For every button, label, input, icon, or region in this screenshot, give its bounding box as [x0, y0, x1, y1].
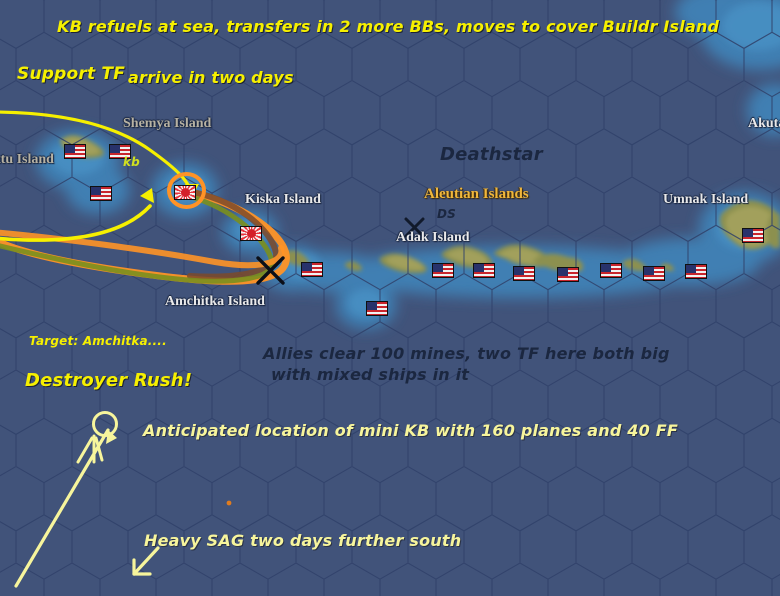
unit-counter-us[interactable] — [109, 144, 131, 159]
unit-counter-us[interactable] — [473, 263, 495, 278]
unit-counter-us[interactable] — [557, 267, 579, 282]
unit-counter-us[interactable] — [742, 228, 764, 243]
unit-counter-us[interactable] — [685, 264, 707, 279]
unit-counter-japan[interactable] — [240, 226, 262, 241]
unit-counter-us[interactable] — [432, 263, 454, 278]
unit-counter-us[interactable] — [366, 301, 388, 316]
anticipated-location-circle — [92, 411, 118, 437]
unit-counter-us[interactable] — [90, 186, 112, 201]
unit-counter-japan-kb[interactable] — [174, 185, 196, 200]
unit-counter-us[interactable] — [513, 266, 535, 281]
water-and-land-layer — [0, 0, 780, 596]
unit-counter-us[interactable] — [301, 262, 323, 277]
unit-counter-us[interactable] — [64, 144, 86, 159]
unit-counter-us[interactable] — [643, 266, 665, 281]
aleutians-hex-map[interactable]: ttu Island Shemya Island Kiska Island Am… — [0, 0, 780, 596]
unit-counter-us[interactable] — [600, 263, 622, 278]
